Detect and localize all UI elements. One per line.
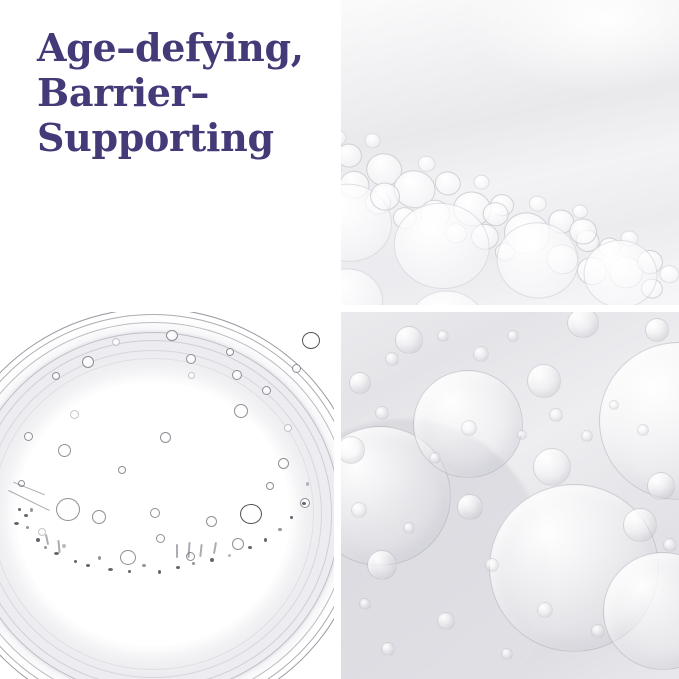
panel-headline: Age–defying, Barrier– Supporting xyxy=(0,0,334,305)
ingredient-poster: Age–defying, Barrier– Supporting xyxy=(0,0,679,679)
panel-hydrolyzed-elastin: Hydrolyzed Elastin locks in moisture and… xyxy=(0,312,334,679)
panel-peptide-complex: Peptide Complex visibly plumps, firms an… xyxy=(341,312,679,679)
page-title: Age–defying, Barrier– Supporting xyxy=(37,26,327,160)
panel-adenosine: Adenosine boosts collagen synthesis xyxy=(341,0,679,305)
